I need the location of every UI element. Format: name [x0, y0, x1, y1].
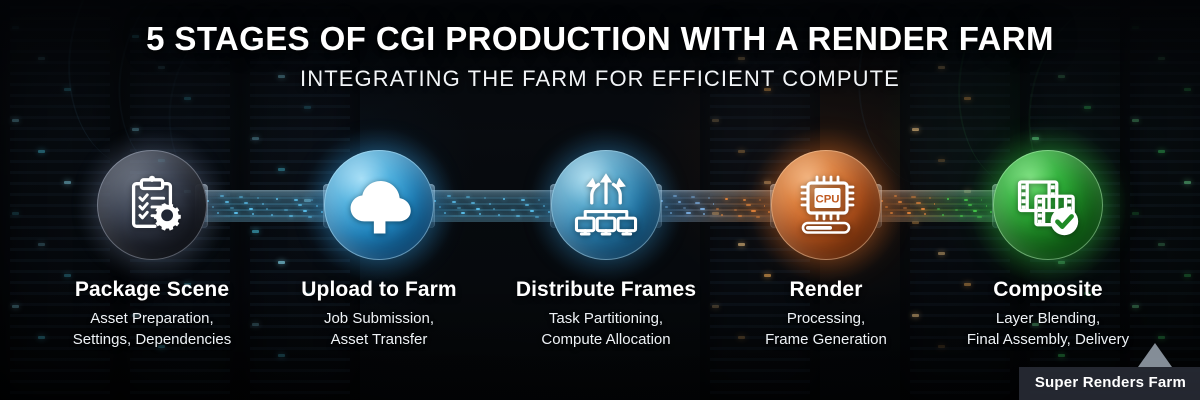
stage-caption-render: RenderProcessing,Frame Generation	[701, 278, 951, 351]
flow-particle	[284, 209, 288, 211]
flow-particle	[249, 208, 254, 210]
flow-particle	[230, 207, 234, 209]
stage-node-package-scene[interactable]	[90, 143, 214, 267]
stage-sphere-upload-to-farm[interactable]	[324, 150, 434, 260]
cpu-chip-label: CPU	[815, 194, 839, 206]
flow-particle	[239, 196, 244, 198]
flow-particle	[257, 197, 259, 199]
flow-particle	[911, 196, 916, 198]
flow-particle	[964, 199, 968, 201]
flow-particle	[695, 202, 700, 204]
stage-title: Distribute Frames	[481, 278, 731, 302]
flow-particle	[262, 203, 264, 205]
stage-caption-upload-to-farm: Upload to FarmJob Submission,Asset Trans…	[254, 278, 504, 351]
flow-particle	[907, 212, 912, 214]
flow-particle	[725, 198, 728, 200]
flow-particle	[924, 213, 926, 215]
flow-particle	[294, 199, 298, 201]
flow-particle	[700, 208, 705, 210]
flow-particle	[471, 202, 476, 204]
stage-title: Render	[701, 278, 951, 302]
flow-particle	[289, 215, 293, 217]
flow-particle	[691, 196, 696, 198]
stage-node-distribute-frames[interactable]	[544, 143, 668, 267]
stage-node-composite[interactable]	[986, 143, 1110, 267]
flow-particle	[252, 213, 254, 215]
brand-name: Super Renders Farm	[1035, 374, 1186, 391]
page-title: 5 STAGES OF CGI PRODUCTION WITH A RENDER…	[0, 22, 1200, 57]
flow-particle	[484, 197, 486, 199]
flow-particle	[457, 207, 461, 209]
mountain-triangle-icon	[1138, 343, 1172, 367]
stage-caption-composite: CompositeLayer Blending,Final Assembly, …	[923, 278, 1173, 351]
stage-sphere-distribute-frames[interactable]	[551, 150, 661, 260]
flow-particle	[479, 213, 481, 215]
flow-particle	[937, 208, 940, 210]
flow-particle	[960, 215, 964, 217]
flow-particle	[234, 212, 239, 214]
flow-particle	[686, 212, 691, 214]
flow-particle	[516, 215, 520, 217]
stage-sphere-composite[interactable]	[993, 150, 1103, 260]
cloud-upload-icon	[344, 170, 414, 240]
header-block: 5 STAGES OF CGI PRODUCTION WITH A RENDER…	[0, 22, 1200, 92]
cpu-chip-icon: CPU	[794, 173, 858, 237]
stage-description: Asset Preparation,Settings, Dependencies	[27, 308, 277, 351]
flow-particle	[521, 199, 525, 201]
flow-particle	[466, 196, 471, 198]
flow-particle	[708, 197, 710, 199]
flow-particle	[734, 209, 738, 211]
flow-particle	[476, 208, 481, 210]
infographic-poster: 5 STAGES OF CGI PRODUCTION WITH A RENDER…	[0, 0, 1200, 400]
stage-node-upload-to-farm[interactable]	[317, 143, 441, 267]
stage-description: Task Partitioning,Compute Allocation	[481, 308, 731, 351]
page-subtitle: INTEGRATING THE FARM FOR EFFICIENT COMPU…	[0, 66, 1200, 92]
stage-title: Package Scene	[27, 278, 277, 302]
stage-caption-distribute-frames: Distribute FramesTask Partitioning,Compu…	[481, 278, 731, 351]
stage-title: Upload to Farm	[254, 278, 504, 302]
flow-particle	[244, 202, 249, 204]
stage-sphere-render[interactable]: CPU	[771, 150, 881, 260]
stage-node-render[interactable]: CPU	[764, 143, 888, 267]
stage-description: Layer Blending,Final Assembly, Delivery	[923, 308, 1173, 351]
stage-sphere-package-scene[interactable]	[97, 150, 207, 260]
stage-title: Composite	[923, 278, 1173, 302]
flow-particle	[921, 208, 926, 210]
film-check-icon	[1013, 170, 1083, 240]
brand-badge[interactable]: Super Renders Farm	[1019, 367, 1200, 400]
flow-particle	[716, 208, 719, 210]
flow-particle	[738, 215, 742, 217]
flow-particle	[461, 212, 466, 214]
flow-particle	[511, 209, 515, 211]
clipboard-gear-icon	[121, 174, 183, 236]
distribute-monitors-icon	[571, 170, 641, 240]
flow-particle	[929, 197, 931, 199]
flow-particle	[916, 202, 921, 204]
stage-caption-package-scene: Package SceneAsset Preparation,Settings,…	[27, 278, 277, 351]
stage-description: Job Submission,Asset Transfer	[254, 308, 504, 351]
stage-pipeline: CPU	[0, 143, 1200, 267]
stage-description: Processing,Frame Generation	[701, 308, 951, 351]
flow-particle	[489, 203, 491, 205]
